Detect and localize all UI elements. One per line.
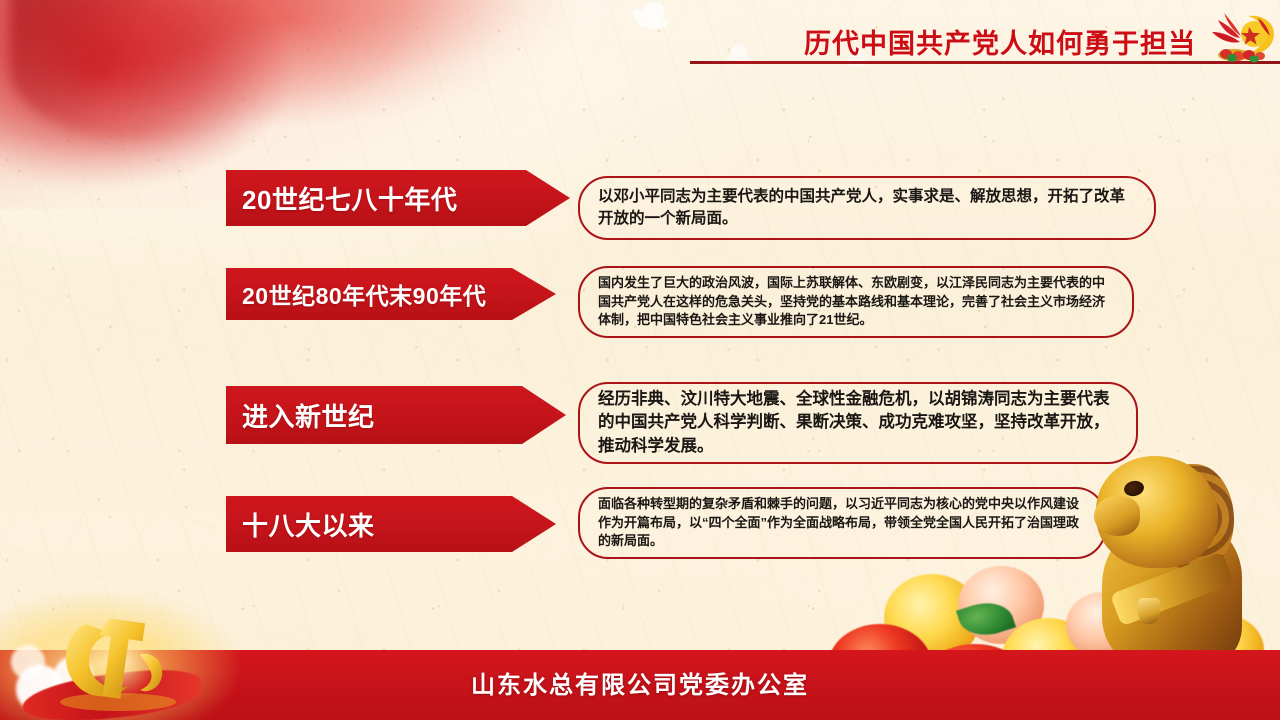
- timeline-bubble-text: 国内发生了巨大的政治风波，国际上苏联解体、东欧剧变，以江泽民同志为主要代表的中国…: [580, 274, 1132, 329]
- timeline-arrow[interactable]: 20世纪七八十年代: [226, 170, 570, 226]
- timeline-arrow-label: 十八大以来: [242, 506, 375, 543]
- timeline-arrow-label: 进入新世纪: [242, 397, 375, 434]
- timeline-bubble-text: 经历非典、汶川特大地震、全球性金融危机，以胡锦涛同志为主要代表的中国共产党人科学…: [580, 388, 1136, 458]
- timeline-bubble-text: 面临各种转型期的复杂矛盾和棘手的问题，以习近平同志为核心的党中央以作风建设作为开…: [580, 495, 1104, 550]
- timeline-arrow-label: 20世纪80年代末90年代: [242, 277, 486, 311]
- timeline-bubble: 以邓小平同志为主要代表的中国共产党人，实事求是、解放思想，开拓了改革开放的一个新…: [578, 176, 1156, 240]
- timeline-arrow[interactable]: 进入新世纪: [226, 386, 566, 444]
- dove-icon: [630, 4, 674, 34]
- page-title: 历代中国共产党人如何勇于担当: [804, 22, 1196, 61]
- slide-header: 历代中国共产党人如何勇于担当: [690, 8, 1280, 70]
- header-divider: [690, 61, 1280, 64]
- timeline-bubble: 国内发生了巨大的政治风波，国际上苏联解体、东欧剧变，以江泽民同志为主要代表的中国…: [578, 266, 1134, 338]
- party-emblem-icon: [1204, 10, 1280, 66]
- timeline-arrow[interactable]: 20世纪80年代末90年代: [226, 268, 556, 320]
- timeline-arrow[interactable]: 十八大以来: [226, 496, 556, 552]
- timeline-arrow-label: 20世纪七八十年代: [242, 180, 457, 217]
- timeline-bubble: 经历非典、汶川特大地震、全球性金融危机，以胡锦涛同志为主要代表的中国共产党人科学…: [578, 382, 1138, 464]
- footer-organization-name: 山东水总有限公司党委办公室: [0, 665, 1280, 700]
- presentation-slide: 历代中国共产党人如何勇于担当: [0, 0, 1280, 720]
- timeline-bubble: 面临各种转型期的复杂矛盾和棘手的问题，以习近平同志为核心的党中央以作风建设作为开…: [578, 487, 1106, 559]
- timeline-bubble-text: 以邓小平同志为主要代表的中国共产党人，实事求是、解放思想，开拓了改革开放的一个新…: [580, 186, 1154, 230]
